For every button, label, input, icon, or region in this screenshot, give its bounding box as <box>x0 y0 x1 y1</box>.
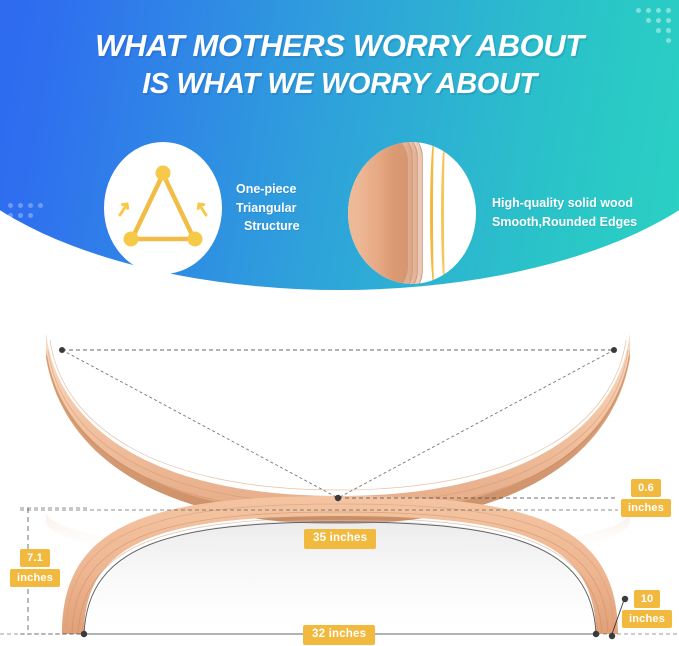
feature-2-line-1: High-quality solid wood <box>492 194 637 213</box>
balance-board-diagram <box>0 300 679 646</box>
wood-edge-photo <box>348 142 476 284</box>
depth-value: 10 <box>634 590 661 608</box>
headline-line-1: WHAT MOTHERS WORRY ABOUT <box>0 26 679 66</box>
wood-edge-badge <box>348 142 476 284</box>
triangle-badge <box>104 142 222 274</box>
feature-2-line-2: Smooth,Rounded Edges <box>492 213 637 232</box>
product-dimension-stage <box>0 300 679 646</box>
height-unit: inches <box>10 569 60 587</box>
thickness-value: 0.6 <box>631 479 661 497</box>
width-label: 32 inches <box>303 625 375 645</box>
feature-triangular-structure: One-piece Triangular Structure <box>104 142 300 274</box>
dimension-thickness: 0.6 inches <box>621 479 671 517</box>
feature-1-line-2: Triangular <box>236 199 300 218</box>
triangle-structure-icon <box>104 142 222 274</box>
thickness-unit: inches <box>621 499 671 517</box>
feature-1-line-1: One-piece <box>236 180 300 199</box>
product-infographic: WHAT MOTHERS WORRY ABOUT IS WHAT WE WORR… <box>0 0 679 646</box>
decorative-dots-left <box>8 203 43 238</box>
edge-highlight-line <box>430 142 439 284</box>
header-panel: WHAT MOTHERS WORRY ABOUT IS WHAT WE WORR… <box>0 0 679 300</box>
feature-triangular-text: One-piece Triangular Structure <box>236 180 300 236</box>
edge-highlight-line <box>441 142 450 284</box>
feature-1-line-3: Structure <box>236 217 300 236</box>
depth-unit: inches <box>622 610 672 628</box>
arc-label: 35 inches <box>304 529 376 549</box>
feature-solid-wood: High-quality solid wood Smooth,Rounded E… <box>348 142 637 284</box>
dimension-base-width: 32 inches <box>303 625 375 645</box>
dimension-depth: 10 inches <box>622 590 672 628</box>
page-title: WHAT MOTHERS WORRY ABOUT IS WHAT WE WORR… <box>0 26 679 103</box>
dimension-arc-length: 35 inches <box>304 529 376 549</box>
feature-solid-wood-text: High-quality solid wood Smooth,Rounded E… <box>492 194 637 232</box>
dimension-height: 7.1 inches <box>10 549 60 587</box>
headline-line-2: IS WHAT WE WORRY ABOUT <box>0 66 679 103</box>
height-value: 7.1 <box>20 549 50 567</box>
wood-ply-layer <box>348 142 423 284</box>
